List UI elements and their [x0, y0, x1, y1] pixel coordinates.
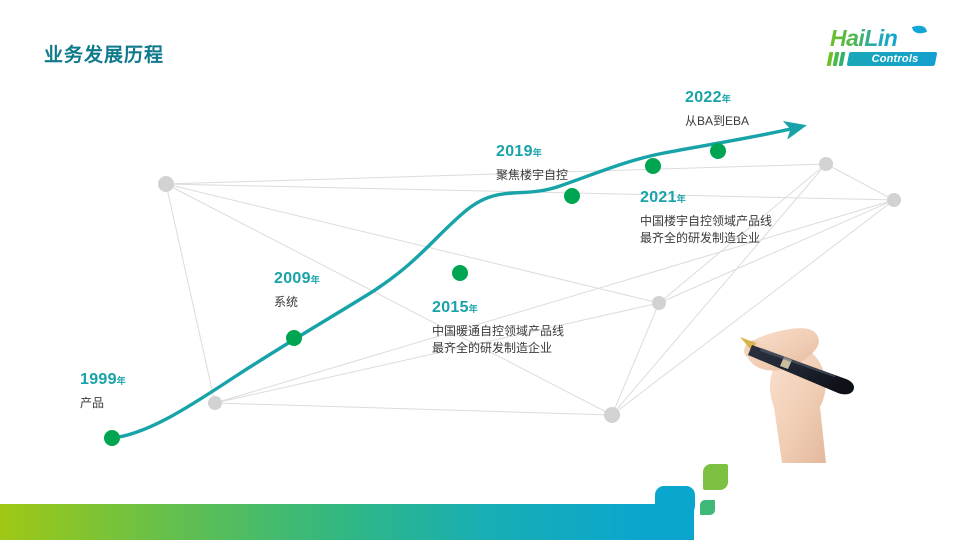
milestone-dot-2022[interactable] — [710, 143, 726, 159]
milestone-label-2015: 2015年中国暖通自控领域产品线最齐全的研发制造企业 — [432, 298, 564, 357]
network-edge — [826, 164, 894, 200]
milestone-year-2015: 2015年 — [432, 298, 564, 319]
milestone-desc-2021: 中国楼宇自控领域产品线 — [640, 213, 772, 230]
milestone-year-number: 2022 — [685, 89, 722, 106]
milestone-desc-2015: 最齐全的研发制造企业 — [432, 340, 564, 357]
milestone-year-2022: 2022年 — [685, 88, 749, 109]
hand-holding-pen-image — [722, 295, 882, 465]
growth-curve — [112, 128, 795, 438]
milestone-desc-2021: 最齐全的研发制造企业 — [640, 230, 772, 247]
milestone-year-number: 2019 — [496, 143, 533, 160]
milestone-year-2009: 2009年 — [274, 269, 320, 290]
network-edge — [166, 184, 659, 303]
network-edge — [215, 403, 612, 415]
milestone-label-1999: 1999年产品 — [80, 370, 126, 412]
milestone-year-suffix: 年 — [117, 376, 126, 386]
milestone-year-number: 1999 — [80, 371, 117, 388]
milestone-desc-2022: 从BA到EBA — [685, 113, 749, 130]
network-node — [819, 157, 833, 171]
milestone-year-number: 2009 — [274, 270, 311, 287]
milestone-desc-2009: 系统 — [274, 294, 320, 311]
milestone-dot-2015[interactable] — [452, 265, 468, 281]
milestone-year-suffix: 年 — [469, 304, 478, 314]
network-node — [887, 193, 901, 207]
milestone-dot-2019[interactable] — [564, 188, 580, 204]
milestone-year-2019: 2019年 — [496, 142, 568, 163]
milestone-year-suffix: 年 — [533, 148, 542, 158]
footer-gradient-bar — [0, 504, 640, 540]
network-edge — [166, 184, 215, 403]
network-node — [208, 396, 222, 410]
milestone-year-suffix: 年 — [311, 275, 320, 285]
milestone-dot-1999[interactable] — [104, 430, 120, 446]
milestone-year-2021: 2021年 — [640, 188, 772, 209]
milestone-desc-2015: 中国暖通自控领域产品线 — [432, 323, 564, 340]
milestone-label-2022: 2022年从BA到EBA — [685, 88, 749, 130]
milestone-dot-2021[interactable] — [645, 158, 661, 174]
slide-root: 业务发展历程 HaiLin Controls 1999年产品2009年系统201… — [0, 0, 960, 540]
network-edge — [612, 303, 659, 415]
network-node — [604, 407, 620, 423]
milestone-year-suffix: 年 — [677, 194, 686, 204]
milestone-label-2021: 2021年中国楼宇自控领域产品线最齐全的研发制造企业 — [640, 188, 772, 247]
milestone-year-1999: 1999年 — [80, 370, 126, 391]
milestone-dot-2009[interactable] — [286, 330, 302, 346]
network-node — [158, 176, 174, 192]
milestone-year-number: 2021 — [640, 189, 677, 206]
milestone-desc-1999: 产品 — [80, 395, 126, 412]
milestone-year-number: 2015 — [432, 299, 469, 316]
milestone-desc-2019: 聚焦楼宇自控 — [496, 167, 568, 184]
milestone-year-suffix: 年 — [722, 94, 731, 104]
decor-square-large — [703, 464, 728, 490]
network-node — [652, 296, 666, 310]
footer-notch-block — [655, 486, 695, 515]
milestone-label-2019: 2019年聚焦楼宇自控 — [496, 142, 568, 184]
milestone-label-2009: 2009年系统 — [274, 269, 320, 311]
decor-square-small — [700, 500, 715, 515]
